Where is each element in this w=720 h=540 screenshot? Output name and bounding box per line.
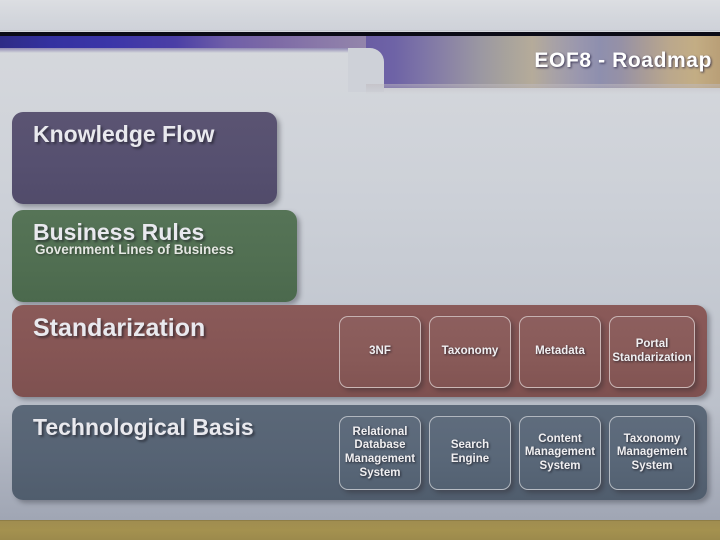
component-box[interactable]: Content Management System [519,416,601,490]
layer-band-standarization[interactable]: Standarization 3NF Taxonomy Metadata Por… [12,305,707,397]
layer-title-standarization: Standarization [33,314,205,343]
layer-band-business-rules[interactable]: Business Rules Government Lines of Busin… [12,210,297,302]
layer-subtitle-business-rules: Government Lines of Business [35,242,234,257]
layer-title-knowledge-flow: Knowledge Flow [33,121,214,148]
layer-band-technological-basis[interactable]: Technological Basis Relational Database … [12,405,707,500]
roadmap-diagram: Knowledge Flow Business Rules Government… [0,0,720,540]
component-box[interactable]: Metadata [519,316,601,388]
slide-footer-bar [0,520,720,540]
layer-title-technological-basis: Technological Basis [33,414,254,441]
component-box[interactable]: Search Engine [429,416,511,490]
component-box[interactable]: 3NF [339,316,421,388]
component-box[interactable]: Relational Database Management System [339,416,421,490]
layer-band-knowledge-flow[interactable]: Knowledge Flow [12,112,277,204]
component-box[interactable]: Portal Standarization [609,316,695,388]
component-box[interactable]: Taxonomy [429,316,511,388]
component-box[interactable]: Taxonomy Management System [609,416,695,490]
